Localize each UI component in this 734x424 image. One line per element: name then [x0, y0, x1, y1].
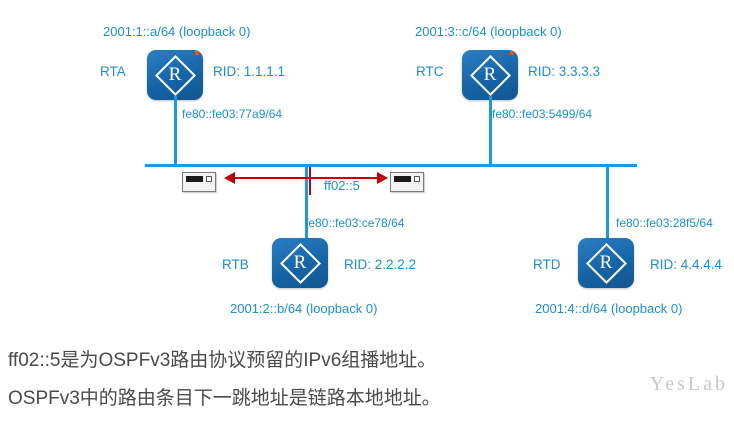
router-glyph: R [147, 50, 203, 100]
router-icon-rta[interactable]: R [147, 50, 203, 100]
ethernet-bus-segment [145, 164, 637, 167]
multicast-source-tick [309, 167, 311, 195]
rtc-interface-label: fe80::fe03:5499/64 [492, 107, 592, 122]
rtc-rid-label: RID: 3.3.3.3 [528, 64, 600, 79]
rta-loopback-label: 2001:1::a/64 (loopback 0) [103, 24, 250, 39]
rta-rid-label: RID: 1.1.1.1 [213, 64, 285, 79]
link-rta-to-bus [174, 96, 177, 166]
packet-node-icon-right [390, 172, 424, 192]
router-icon-rtb[interactable]: R [272, 238, 328, 288]
packet-square-icon [414, 176, 420, 182]
rtb-interface-label: fe80::fe03:ce78/64 [305, 216, 404, 231]
router-icon-rtc[interactable]: R [462, 50, 518, 100]
arrow-head-right-icon [377, 172, 388, 184]
rtd-rid-label: RID: 4.4.4.4 [650, 257, 722, 272]
router-glyph: R [272, 238, 328, 288]
watermark-text: YesLab [650, 373, 728, 396]
packet-bar-icon [394, 176, 411, 182]
link-rtc-to-bus [489, 96, 492, 166]
rta-name-label: RTA [100, 64, 126, 79]
caption-line-2: OSPFv3中的路由条目下一跳地址是链路本地地址。 [8, 386, 441, 412]
rtb-rid-label: RID: 2.2.2.2 [344, 257, 416, 272]
rtd-name-label: RTD [533, 257, 561, 272]
caption-line-1: ff02::5是为OSPFv3路由协议预留的IPv6组播地址。 [8, 348, 436, 374]
rtc-loopback-label: 2001:3::c/64 (loopback 0) [415, 24, 562, 39]
rta-interface-label: fe80::fe03:77a9/64 [182, 107, 282, 122]
packet-square-icon [206, 176, 212, 182]
packet-node-icon-left [182, 172, 216, 192]
rtd-loopback-label: 2001:4::d/64 (loopback 0) [535, 301, 682, 316]
rtb-loopback-label: 2001:2::b/64 (loopback 0) [230, 301, 377, 316]
router-glyph: R [578, 238, 634, 288]
router-glyph: R [462, 50, 518, 100]
rtb-name-label: RTB [222, 257, 249, 272]
diagram-canvas: 2001:1::a/64 (loopback 0) RTA R RID: 1.1… [0, 0, 734, 424]
router-icon-rtd[interactable]: R [578, 238, 634, 288]
link-rtd-to-bus [606, 164, 609, 238]
multicast-address-label: ff02::5 [324, 178, 360, 193]
rtd-interface-label: fe80::fe03:28f5/64 [616, 216, 713, 231]
rtc-name-label: RTC [416, 64, 444, 79]
packet-bar-icon [186, 176, 203, 182]
